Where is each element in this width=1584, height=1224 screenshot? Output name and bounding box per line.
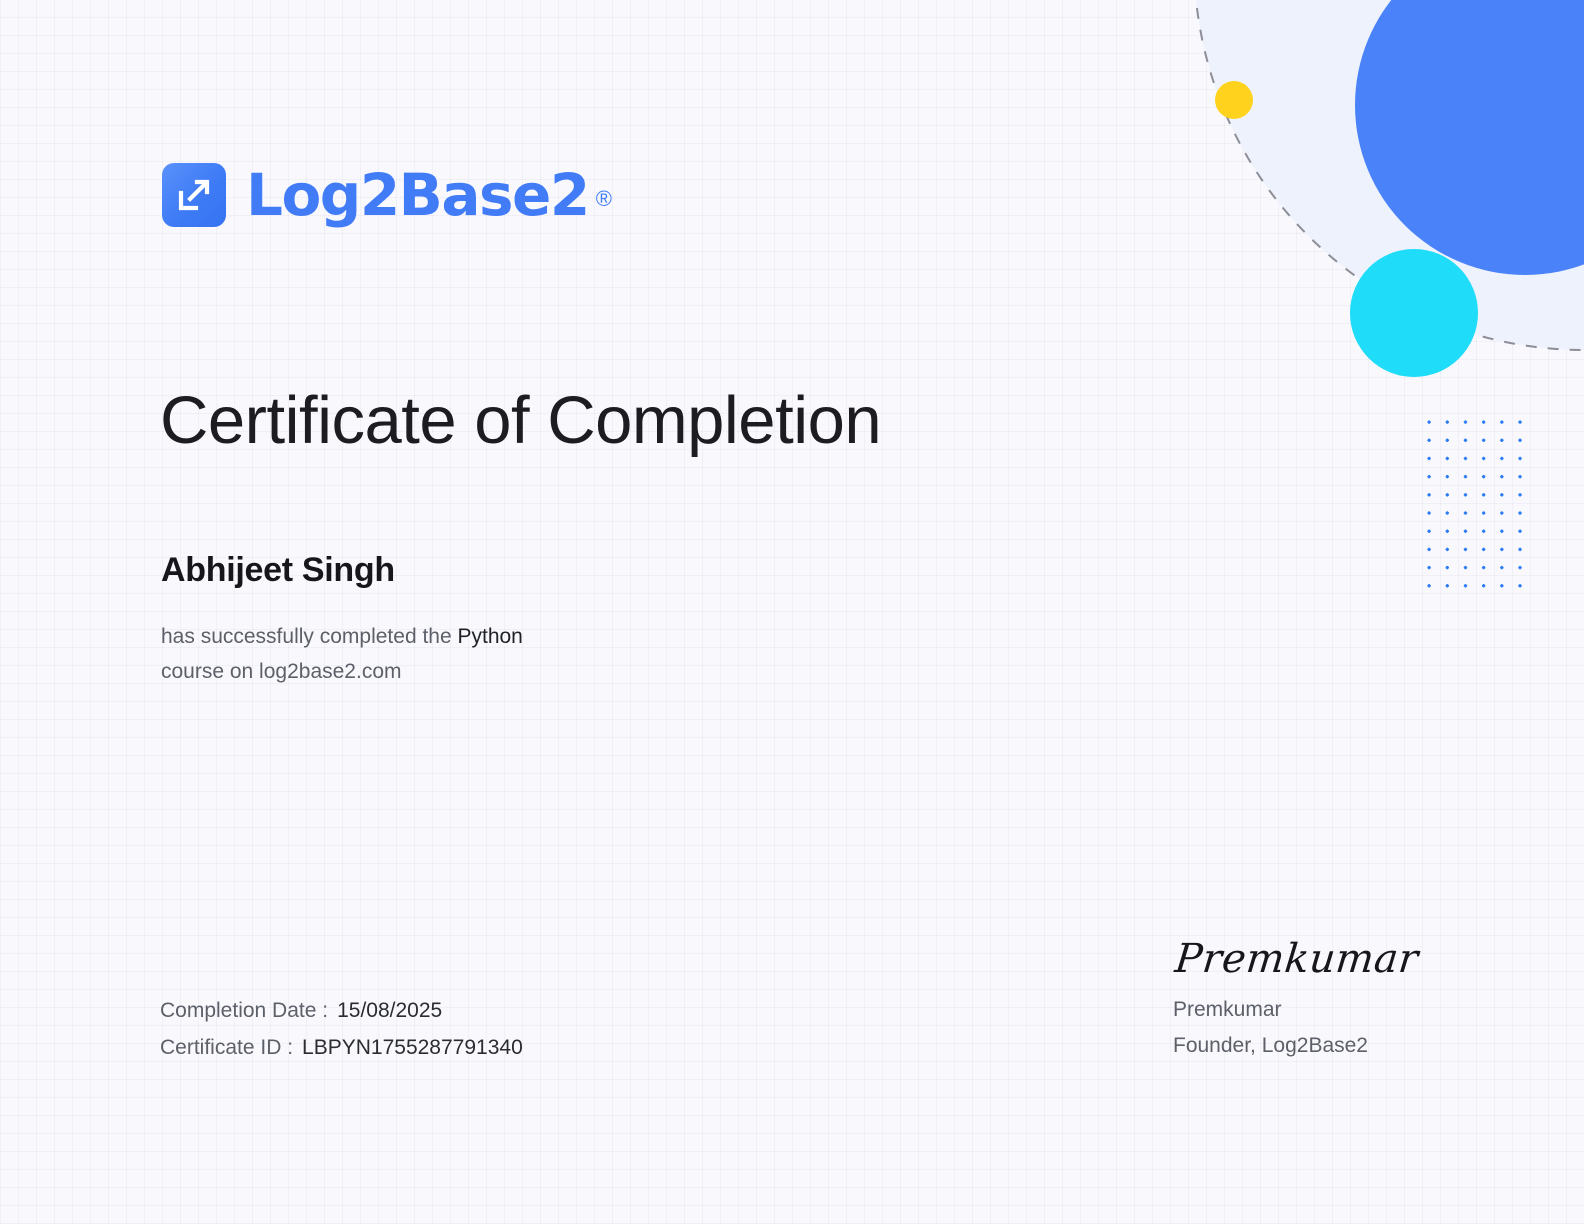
registered-trademark-icon: ®: [596, 188, 612, 210]
signature-block: Premkumar Premkumar Founder, Log2Base2: [1173, 938, 1416, 1064]
completion-date-value: 15/08/2025: [337, 999, 442, 1022]
certificate-id-row: Certificate ID :LBPYN1755287791340: [160, 1029, 523, 1066]
brand-logo[interactable]: Log2Base2 ®: [162, 163, 612, 227]
completion-statement: has successfully completed the Python co…: [161, 619, 523, 689]
logo-wordmark: Log2Base2 ®: [246, 166, 612, 224]
recipient-name: Abhijeet Singh: [161, 551, 395, 590]
completion-statement-suffix: course on log2base2.com: [161, 660, 402, 683]
logo-mark: [162, 163, 226, 227]
certificate-id-value: LBPYN1755287791340: [302, 1036, 523, 1059]
signer-role: Founder, Log2Base2: [1173, 1028, 1416, 1064]
page-title: Certificate of Completion: [160, 382, 881, 459]
course-name: Python: [457, 625, 522, 648]
certificate-canvas: Log2Base2 ® Certificate of Completion Ab…: [0, 0, 1584, 1224]
certificate-meta: Completion Date :15/08/2025 Certificate …: [160, 992, 523, 1066]
completion-date-row: Completion Date :15/08/2025: [160, 992, 523, 1029]
signature-image: Premkumar: [1173, 938, 1420, 980]
completion-date-label: Completion Date :: [160, 999, 328, 1022]
signer-name: Premkumar: [1173, 992, 1416, 1028]
completion-statement-prefix: has successfully completed the: [161, 625, 457, 648]
expand-arrow-icon: [174, 175, 214, 215]
logo-wordmark-text: Log2Base2: [246, 166, 589, 224]
certificate-id-label: Certificate ID :: [160, 1036, 293, 1059]
certificate-content: Log2Base2 ® Certificate of Completion Ab…: [0, 0, 1584, 1224]
